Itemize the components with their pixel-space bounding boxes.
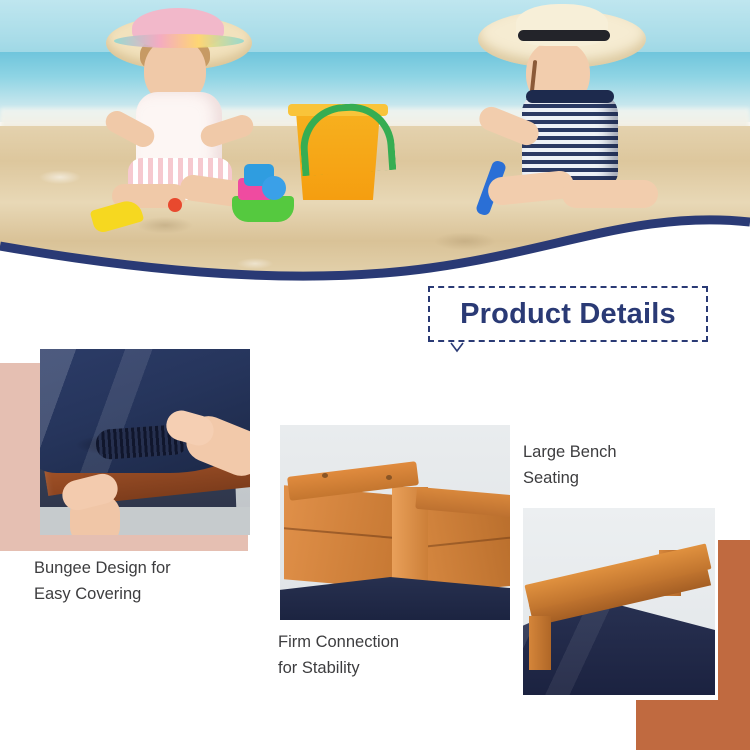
caption-bench: Large Bench Seating — [523, 440, 723, 491]
sun-hat-stripe — [114, 34, 244, 48]
right-leg — [562, 180, 658, 208]
caption-line-1: Bungee Design for — [34, 556, 254, 582]
feature-photo-bungee — [40, 349, 250, 535]
feature-photo-connection — [280, 425, 510, 620]
cyan-sand-toy — [262, 176, 286, 200]
chevron-down-icon — [449, 341, 465, 353]
hero-banner — [0, 0, 750, 285]
caption-line-1: Firm Connection — [278, 630, 498, 656]
screw-hole-1 — [322, 473, 328, 478]
caption-connection: Firm Connection for Stability — [278, 630, 498, 681]
romper-collar — [526, 90, 614, 103]
caption-line-2: Seating — [523, 466, 723, 492]
straw-hat-band — [518, 30, 610, 41]
feature-photo-bench — [523, 508, 715, 695]
red-toy-ball — [168, 198, 182, 212]
caption-bungee: Bungee Design for Easy Covering — [34, 556, 254, 607]
bench-support-left — [529, 616, 551, 670]
hero-photo — [0, 0, 750, 285]
caption-line-2: Easy Covering — [34, 582, 254, 608]
caption-line-2: for Stability — [278, 656, 498, 682]
terracotta-accent-block-bottom — [636, 700, 750, 750]
page-title: Product Details — [460, 298, 676, 331]
screw-hole-2 — [386, 475, 392, 480]
caption-line-1: Large Bench — [523, 440, 723, 466]
infographic-page: Product Details — [0, 0, 750, 750]
page-title-box: Product Details — [428, 286, 708, 342]
child-right — [470, 4, 682, 224]
